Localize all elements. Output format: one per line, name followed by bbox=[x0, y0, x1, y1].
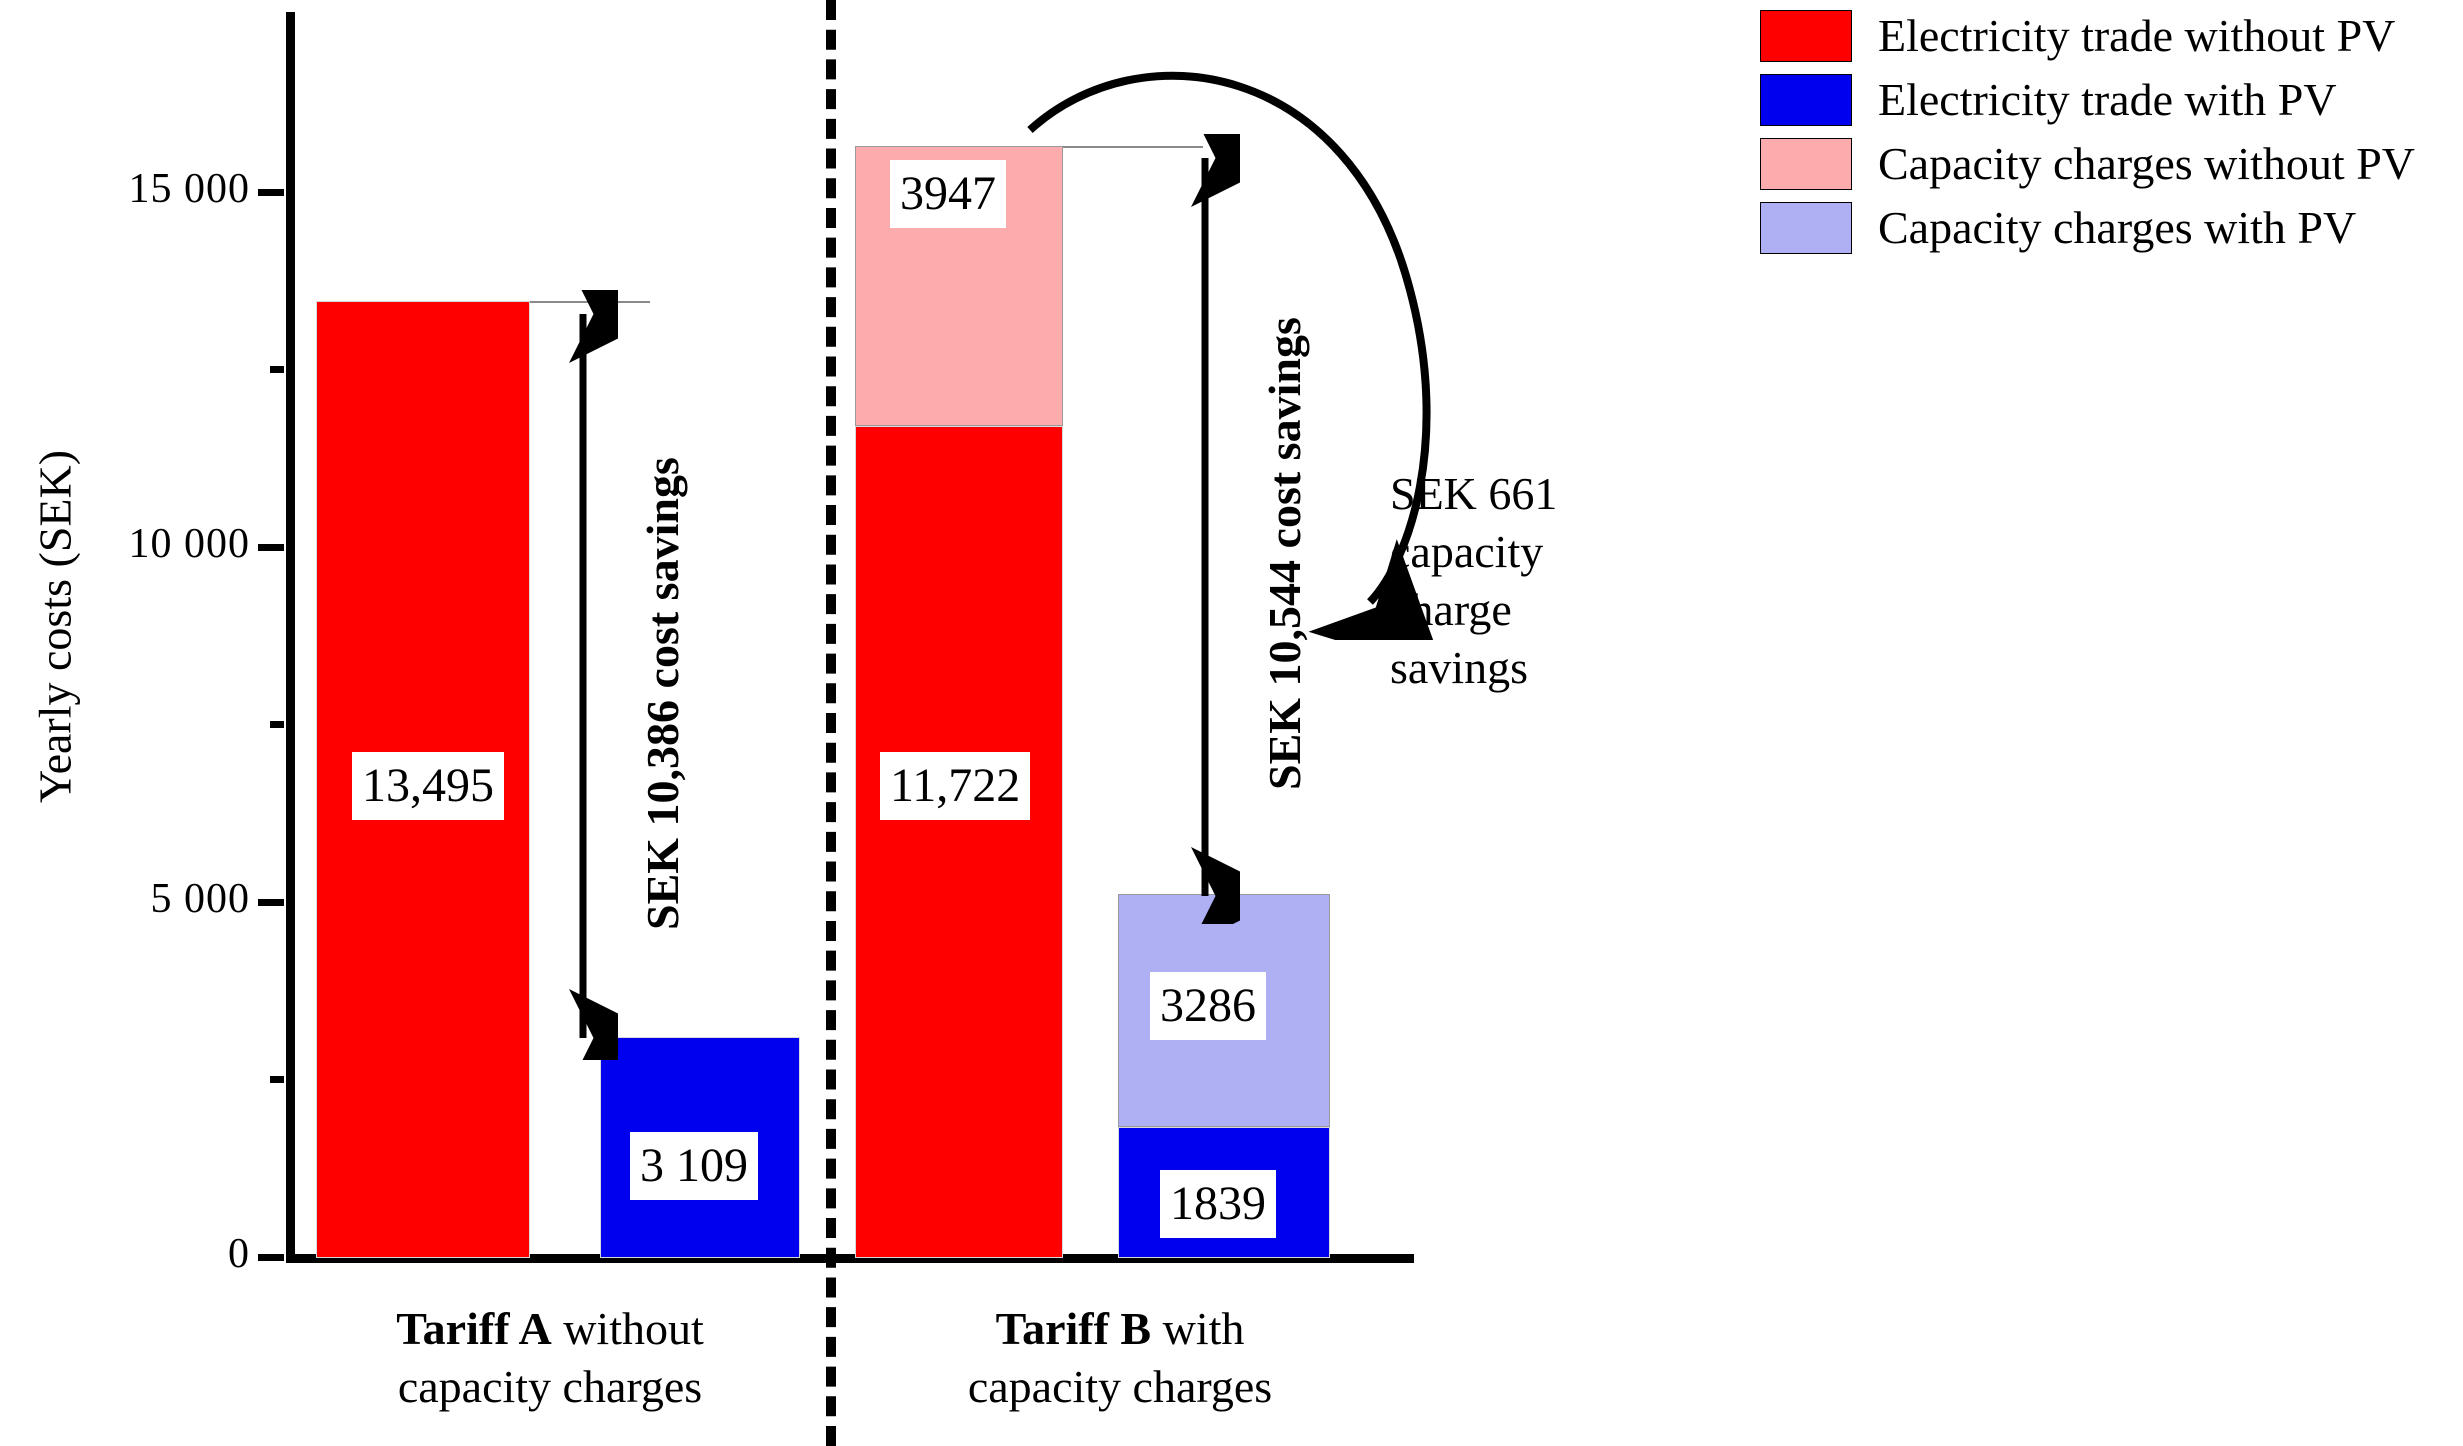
y-tick-minor-12500 bbox=[270, 366, 284, 373]
curve-annotation-line4: savings bbox=[1390, 639, 1620, 697]
x-axis-label-tariff-a-bold: Tariff A bbox=[396, 1303, 551, 1354]
y-tick-label-5000: 5 000 bbox=[0, 878, 250, 920]
x-axis-label-tariff-a-line2: capacity charges bbox=[280, 1358, 820, 1416]
x-axis-label-tariff-b-rest: with bbox=[1151, 1303, 1244, 1354]
curve-annotation-line2: capacity bbox=[1390, 523, 1620, 581]
curved-arrow-capacity-savings bbox=[1020, 40, 1440, 640]
y-tick-5000 bbox=[258, 899, 284, 906]
chart-legend: Electricity trade without PV Electricity… bbox=[1760, 8, 2460, 264]
bar-value-a-red: 13,495 bbox=[352, 752, 504, 820]
y-axis-title: Yearly costs (SEK) bbox=[29, 367, 82, 887]
legend-item-electricity-with-pv[interactable]: Electricity trade with PV bbox=[1760, 72, 2460, 128]
legend-item-capacity-with-pv[interactable]: Capacity charges with PV bbox=[1760, 200, 2460, 256]
y-tick-label-10000: 10 000 bbox=[0, 523, 250, 565]
curve-annotation-line3: charge bbox=[1390, 581, 1620, 639]
x-axis-label-tariff-b: Tariff B with capacity charges bbox=[850, 1300, 1390, 1416]
x-axis-label-tariff-a-line1: Tariff A without bbox=[280, 1300, 820, 1358]
legend-swatch-icon-pink bbox=[1760, 138, 1852, 190]
x-axis-label-tariff-a-rest: without bbox=[552, 1303, 704, 1354]
y-tick-0 bbox=[258, 1254, 284, 1261]
x-axis-label-tariff-b-bold: Tariff B bbox=[996, 1303, 1151, 1354]
x-axis-label-tariff-b-line1: Tariff B with bbox=[850, 1300, 1390, 1358]
chart-plot-area: Yearly costs (SEK) 15 000 10 000 5 000 0… bbox=[0, 0, 1700, 1446]
legend-swatch-icon-blue bbox=[1760, 74, 1852, 126]
y-tick-label-0: 0 bbox=[0, 1233, 250, 1275]
legend-label-capacity-with-pv: Capacity charges with PV bbox=[1878, 202, 2356, 254]
legend-label-electricity-with-pv: Electricity trade with PV bbox=[1878, 74, 2337, 126]
legend-swatch-icon-red bbox=[1760, 10, 1852, 62]
curve-annotation-text: SEK 661 capacity charge savings bbox=[1390, 465, 1620, 697]
y-tick-minor-2500 bbox=[270, 1076, 284, 1083]
bar-value-b-lblue: 3286 bbox=[1150, 972, 1266, 1040]
group-divider bbox=[826, 0, 836, 1446]
arrow-a-cost-savings bbox=[548, 290, 618, 1060]
y-tick-15000 bbox=[258, 189, 284, 196]
legend-label-electricity-without-pv: Electricity trade without PV bbox=[1878, 10, 2395, 62]
bar-value-b-blue: 1839 bbox=[1160, 1170, 1276, 1238]
y-axis-line bbox=[286, 12, 295, 1262]
x-axis-label-tariff-a: Tariff A without capacity charges bbox=[280, 1300, 820, 1416]
x-axis-label-tariff-b-line2: capacity charges bbox=[850, 1358, 1390, 1416]
y-tick-label-15000: 15 000 bbox=[0, 168, 250, 210]
legend-label-capacity-without-pv: Capacity charges without PV bbox=[1878, 138, 2415, 190]
y-tick-10000 bbox=[258, 544, 284, 551]
y-tick-minor-7500 bbox=[270, 721, 284, 728]
bar-value-b-pink: 3947 bbox=[890, 160, 1006, 228]
bar-value-a-blue: 3 109 bbox=[630, 1132, 758, 1200]
legend-swatch-icon-light-blue bbox=[1760, 202, 1852, 254]
arrow-label-a: SEK 10,386 cost savings bbox=[636, 457, 689, 930]
curve-annotation-line1: SEK 661 bbox=[1390, 465, 1620, 523]
bar-value-b-red: 11,722 bbox=[880, 752, 1030, 820]
legend-item-capacity-without-pv[interactable]: Capacity charges without PV bbox=[1760, 136, 2460, 192]
legend-item-electricity-without-pv[interactable]: Electricity trade without PV bbox=[1760, 8, 2460, 64]
